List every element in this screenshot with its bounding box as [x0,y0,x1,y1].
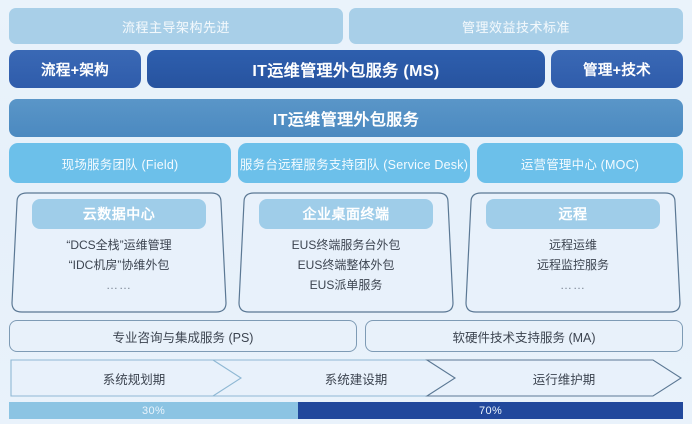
service-items-remote: 远程运维 远程监控服务 …… [537,238,609,293]
service-title-remote: 远程 [486,199,660,229]
service-items-enterprise-desktop: EUS终端服务台外包 EUS终端整体外包 EUS派单服务 [292,238,401,293]
support-card-ps: 专业咨询与集成服务 (PS) [9,320,357,352]
support-service-row: 专业咨询与集成服务 (PS) 软硬件技术支持服务 (MA) [9,320,683,352]
service-items-cloud-datacenter: “DCS全栈”运维管理 “IDC机房”协维外包 …… [66,238,171,293]
phase-chevron-row: 系统规划期 系统建设期 运行维护期 [9,357,683,399]
slogan-row: 流程主导架构先进 管理效益技术标准 [9,8,683,44]
service-box-remote: 远程 远程运维 远程监控服务 …… [463,190,683,315]
service-item: EUS终端服务台外包 [292,238,401,253]
service-title-enterprise-desktop: 企业桌面终端 [259,199,433,229]
team-pill-field: 现场服务团队 (Field) [9,143,231,183]
split-segment-70: 70% [298,402,683,419]
ms-center-card: IT运维管理外包服务 (MS) [147,50,545,88]
service-row: 云数据中心 “DCS全栈”运维管理 “IDC机房”协维外包 …… 企业桌面终端 … [9,190,683,315]
ms-left-card: 流程+架构 [9,50,141,88]
service-item-ellipsis: …… [560,278,586,293]
service-item: “IDC机房”协维外包 [69,258,170,273]
ms-right-card: 管理+技术 [551,50,683,88]
ms-row: 流程+架构 IT运维管理外包服务 (MS) 管理+技术 [9,50,683,88]
service-title-cloud-datacenter: 云数据中心 [32,199,206,229]
service-box-cloud-datacenter: 云数据中心 “DCS全栈”运维管理 “IDC机房”协维外包 …… [9,190,229,315]
slogan-card-left: 流程主导架构先进 [9,8,343,44]
team-pill-moc: 运营管理中心 (MOC) [477,143,683,183]
team-pill-service-desk: 服务台远程服务支持团队 (Service Desk) [238,143,470,183]
service-item: 远程监控服务 [537,258,609,273]
service-box-enterprise-desktop: 企业桌面终端 EUS终端服务台外包 EUS终端整体外包 EUS派单服务 [236,190,456,315]
service-item: 远程运维 [549,238,597,253]
service-item: EUS派单服务 [310,278,383,293]
service-item: EUS终端整体外包 [298,258,395,273]
support-card-ma: 软硬件技术支持服务 (MA) [365,320,683,352]
team-row: 现场服务团队 (Field) 服务台远程服务支持团队 (Service Desk… [9,143,683,183]
main-banner: IT运维管理外包服务 [9,99,683,137]
split-segment-30: 30% [9,402,298,419]
chevron-shapes [9,357,683,399]
slogan-card-right: 管理效益技术标准 [349,8,683,44]
service-item: “DCS全栈”运维管理 [66,238,171,253]
architecture-diagram: 流程主导架构先进 管理效益技术标准 流程+架构 IT运维管理外包服务 (MS) … [0,0,692,424]
percentage-split-bar: 30% 70% [9,402,683,419]
service-item-ellipsis: …… [106,278,132,293]
